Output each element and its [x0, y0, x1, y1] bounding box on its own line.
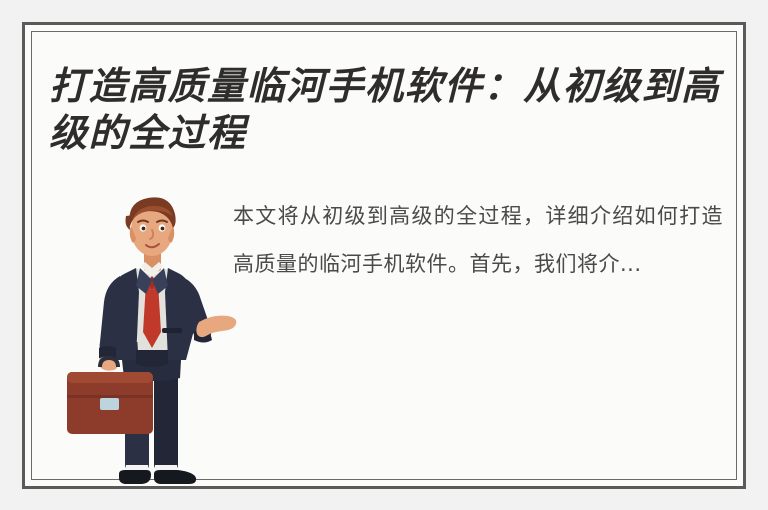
- article-card-body: 打造高质量临河手机软件：从初级到高级的全过程 身穿深蓝西装、打红色领带、手提棕色…: [32, 32, 736, 479]
- article-card-inner-frame: 打造高质量临河手机软件：从初级到高级的全过程 身穿深蓝西装、打红色领带、手提棕色…: [31, 31, 737, 480]
- briefcase-seam: [67, 395, 153, 398]
- businessman-illustration: 身穿深蓝西装、打红色领带、手提棕色公文包并伸手示意的商务男士插画: [62, 182, 252, 492]
- article-excerpt: 本文将从初级到高级的全过程，详细介绍如何打造高质量的临河手机软件。首先，我们将介…: [233, 192, 723, 288]
- jacket-hem: [136, 350, 168, 367]
- right-pupil: [161, 227, 165, 231]
- businessman-illustration-svg: 身穿深蓝西装、打红色领带、手提棕色公文包并伸手示意的商务男士插画: [62, 182, 252, 492]
- right-trouser-leg: [154, 368, 178, 470]
- briefcase-lid: [67, 372, 153, 383]
- left-shoe: [119, 470, 151, 484]
- jacket-pocket: [162, 328, 182, 333]
- left-pupil: [142, 227, 146, 231]
- briefcase-clasp: [100, 398, 119, 410]
- right-shoe: [154, 470, 196, 484]
- article-card-outer-frame: 打造高质量临河手机软件：从初级到高级的全过程 身穿深蓝西装、打红色领带、手提棕色…: [22, 22, 746, 489]
- article-title: 打造高质量临河手机软件：从初级到高级的全过程: [49, 62, 729, 156]
